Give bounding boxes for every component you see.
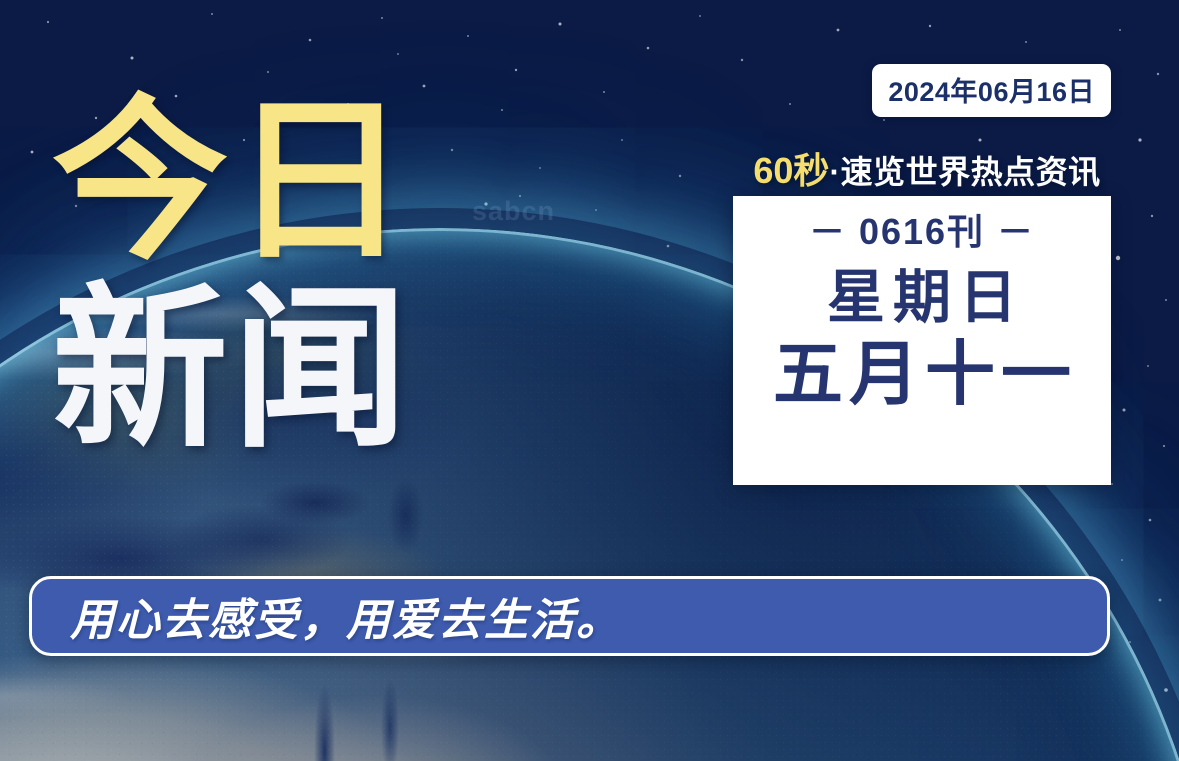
headline-line-1: 今日 [52,96,472,268]
tagline-description: ·速览世界热点资讯 [829,154,1100,190]
info-card: － 0616刊 － 星期日 五月十一 [733,196,1111,485]
quote-text: 用心去感受，用爱去生活。 [32,584,622,648]
watermark-text: sabcn [472,196,555,227]
quote-banner: 用心去感受，用爱去生活。 [29,576,1110,656]
weekday-label: 星期日 [819,268,1025,329]
headline-line-2: 新闻 [52,284,472,456]
news-poster: sabcn 2024年06月16日 今日 新闻 60秒·速览世界热点资讯 － 0… [0,0,1179,761]
tagline-duration: 60秒 [753,150,829,191]
headline-block: 今日 新闻 [52,96,472,457]
date-badge: 2024年06月16日 [872,64,1111,117]
tagline: 60秒·速览世界热点资讯 [742,142,1112,194]
issue-number: － 0616刊 － [809,212,1035,252]
lunar-date-label: 五月十一 [767,338,1077,412]
